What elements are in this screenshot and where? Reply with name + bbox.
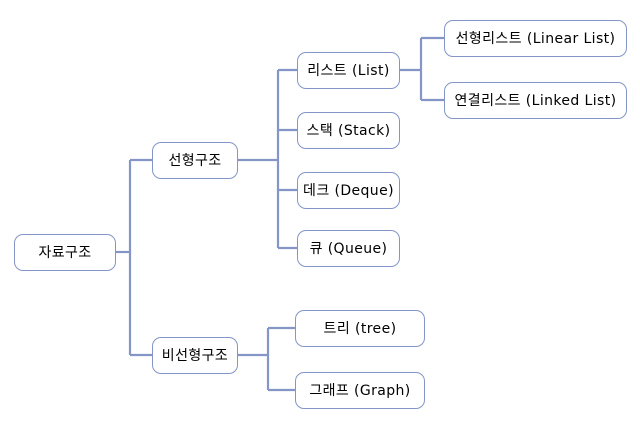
diagram-canvas: 자료구조 선형구조 비선형구조 리스트 (List) 스택 (Stack) 데크… [0,0,640,442]
node-root-label: 자료구조 [38,246,91,260]
node-queue[interactable]: 큐 (Queue) [297,230,400,267]
node-tree[interactable]: 트리 (tree) [295,310,425,347]
node-stack-label: 스택 (Stack) [307,124,391,138]
node-deque-label: 데크 (Deque) [303,184,394,198]
node-linked-list[interactable]: 연결리스트 (Linked List) [444,82,627,119]
node-tree-label: 트리 (tree) [324,322,397,336]
node-linked-list-label: 연결리스트 (Linked List) [455,94,617,108]
node-linear-structure[interactable]: 선형구조 [152,142,238,179]
node-list-label: 리스트 (List) [307,64,390,78]
node-graph[interactable]: 그래프 (Graph) [295,372,425,409]
node-linear-list[interactable]: 선형리스트 (Linear List) [444,20,627,57]
node-deque[interactable]: 데크 (Deque) [297,172,400,209]
node-root[interactable]: 자료구조 [14,234,116,271]
node-nonlinear-structure[interactable]: 비선형구조 [152,337,238,374]
node-nonlinear-structure-label: 비선형구조 [162,349,228,363]
node-queue-label: 큐 (Queue) [310,242,388,256]
node-linear-structure-label: 선형구조 [168,154,221,168]
node-list[interactable]: 리스트 (List) [297,52,400,89]
node-linear-list-label: 선형리스트 (Linear List) [456,32,616,46]
node-graph-label: 그래프 (Graph) [309,384,410,398]
node-stack[interactable]: 스택 (Stack) [297,112,400,149]
